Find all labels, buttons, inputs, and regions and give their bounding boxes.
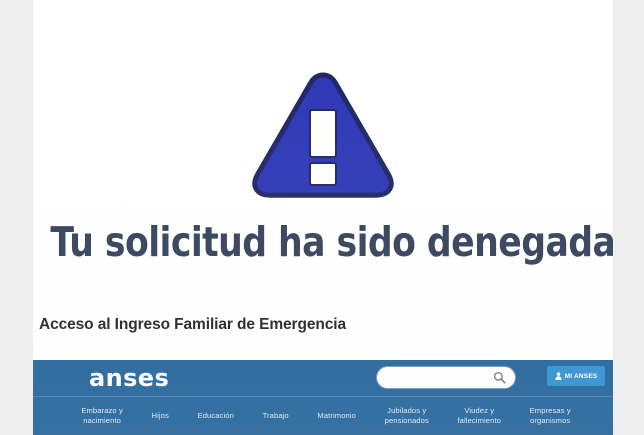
nav-item-matrimonio[interactable]: Matrimonio [303,411,370,421]
mi-anses-label: MI ANSES [565,373,598,380]
mi-anses-button[interactable]: MI ANSES [547,366,605,386]
screenshot-root: Tu solicitud ha sido denegada Acceso al … [0,0,644,435]
nav-item-educacion[interactable]: Educación [183,411,248,421]
page-subtitle: Acceso al Ingreso Familiar de Emergencia [39,315,599,335]
anses-logo[interactable]: anses [89,364,169,392]
nav-item-viudez-y-fallecimiento[interactable]: Viudez y fallecimiento [443,406,515,426]
search-input[interactable] [387,367,487,388]
nav-item-jubilados-y-pensionados[interactable]: Jubilados y pensionados [370,406,443,426]
user-icon [555,372,562,380]
header-top-row: anses MI ANSES [33,360,613,396]
primary-nav: Embarazo y nacimiento Hijos Educación Tr… [33,397,613,435]
nav-item-hijos[interactable]: Hijos [137,411,183,421]
alert-icon-container [33,58,613,213]
denied-headline: Tu solicitud ha sido denegada [50,216,595,268]
nav-item-trabajo[interactable]: Trabajo [248,411,303,421]
warning-triangle-icon [250,70,396,202]
anses-site-header: anses MI ANSES [33,360,613,435]
nav-item-embarazo-y-nacimiento[interactable]: Embarazo y nacimiento [67,406,137,426]
search-icon[interactable] [493,371,506,384]
nav-item-empresas-y-organismos[interactable]: Empresas y organismos [515,406,585,426]
search-box[interactable] [377,367,515,388]
page-sheet: Tu solicitud ha sido denegada Acceso al … [33,0,613,435]
